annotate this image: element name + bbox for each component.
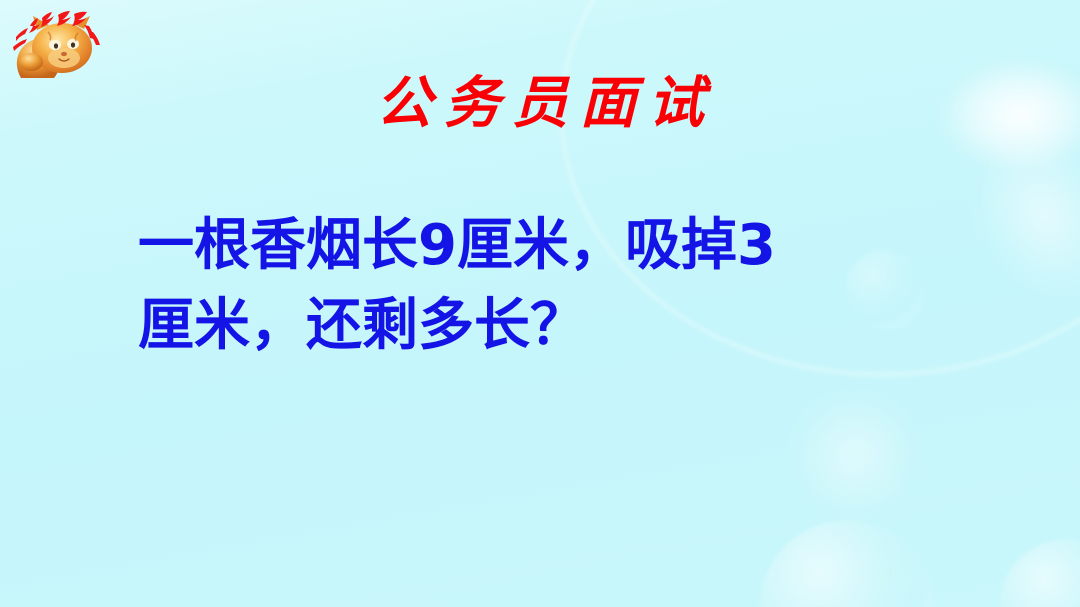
cat-mascot-logo-icon — [4, 4, 104, 80]
slide-canvas: 公务员面试 一根香烟长9厘米，吸掉3 厘米，还剩多长？ — [0, 0, 1080, 607]
page-title: 公务员面试 — [0, 72, 1080, 135]
question-line-1: 一根香烟长9厘米，吸掉3 — [138, 206, 968, 286]
question-line-2: 厘米，还剩多长？ — [138, 286, 968, 366]
question-text: 一根香烟长9厘米，吸掉3 厘米，还剩多长？ — [138, 206, 968, 365]
